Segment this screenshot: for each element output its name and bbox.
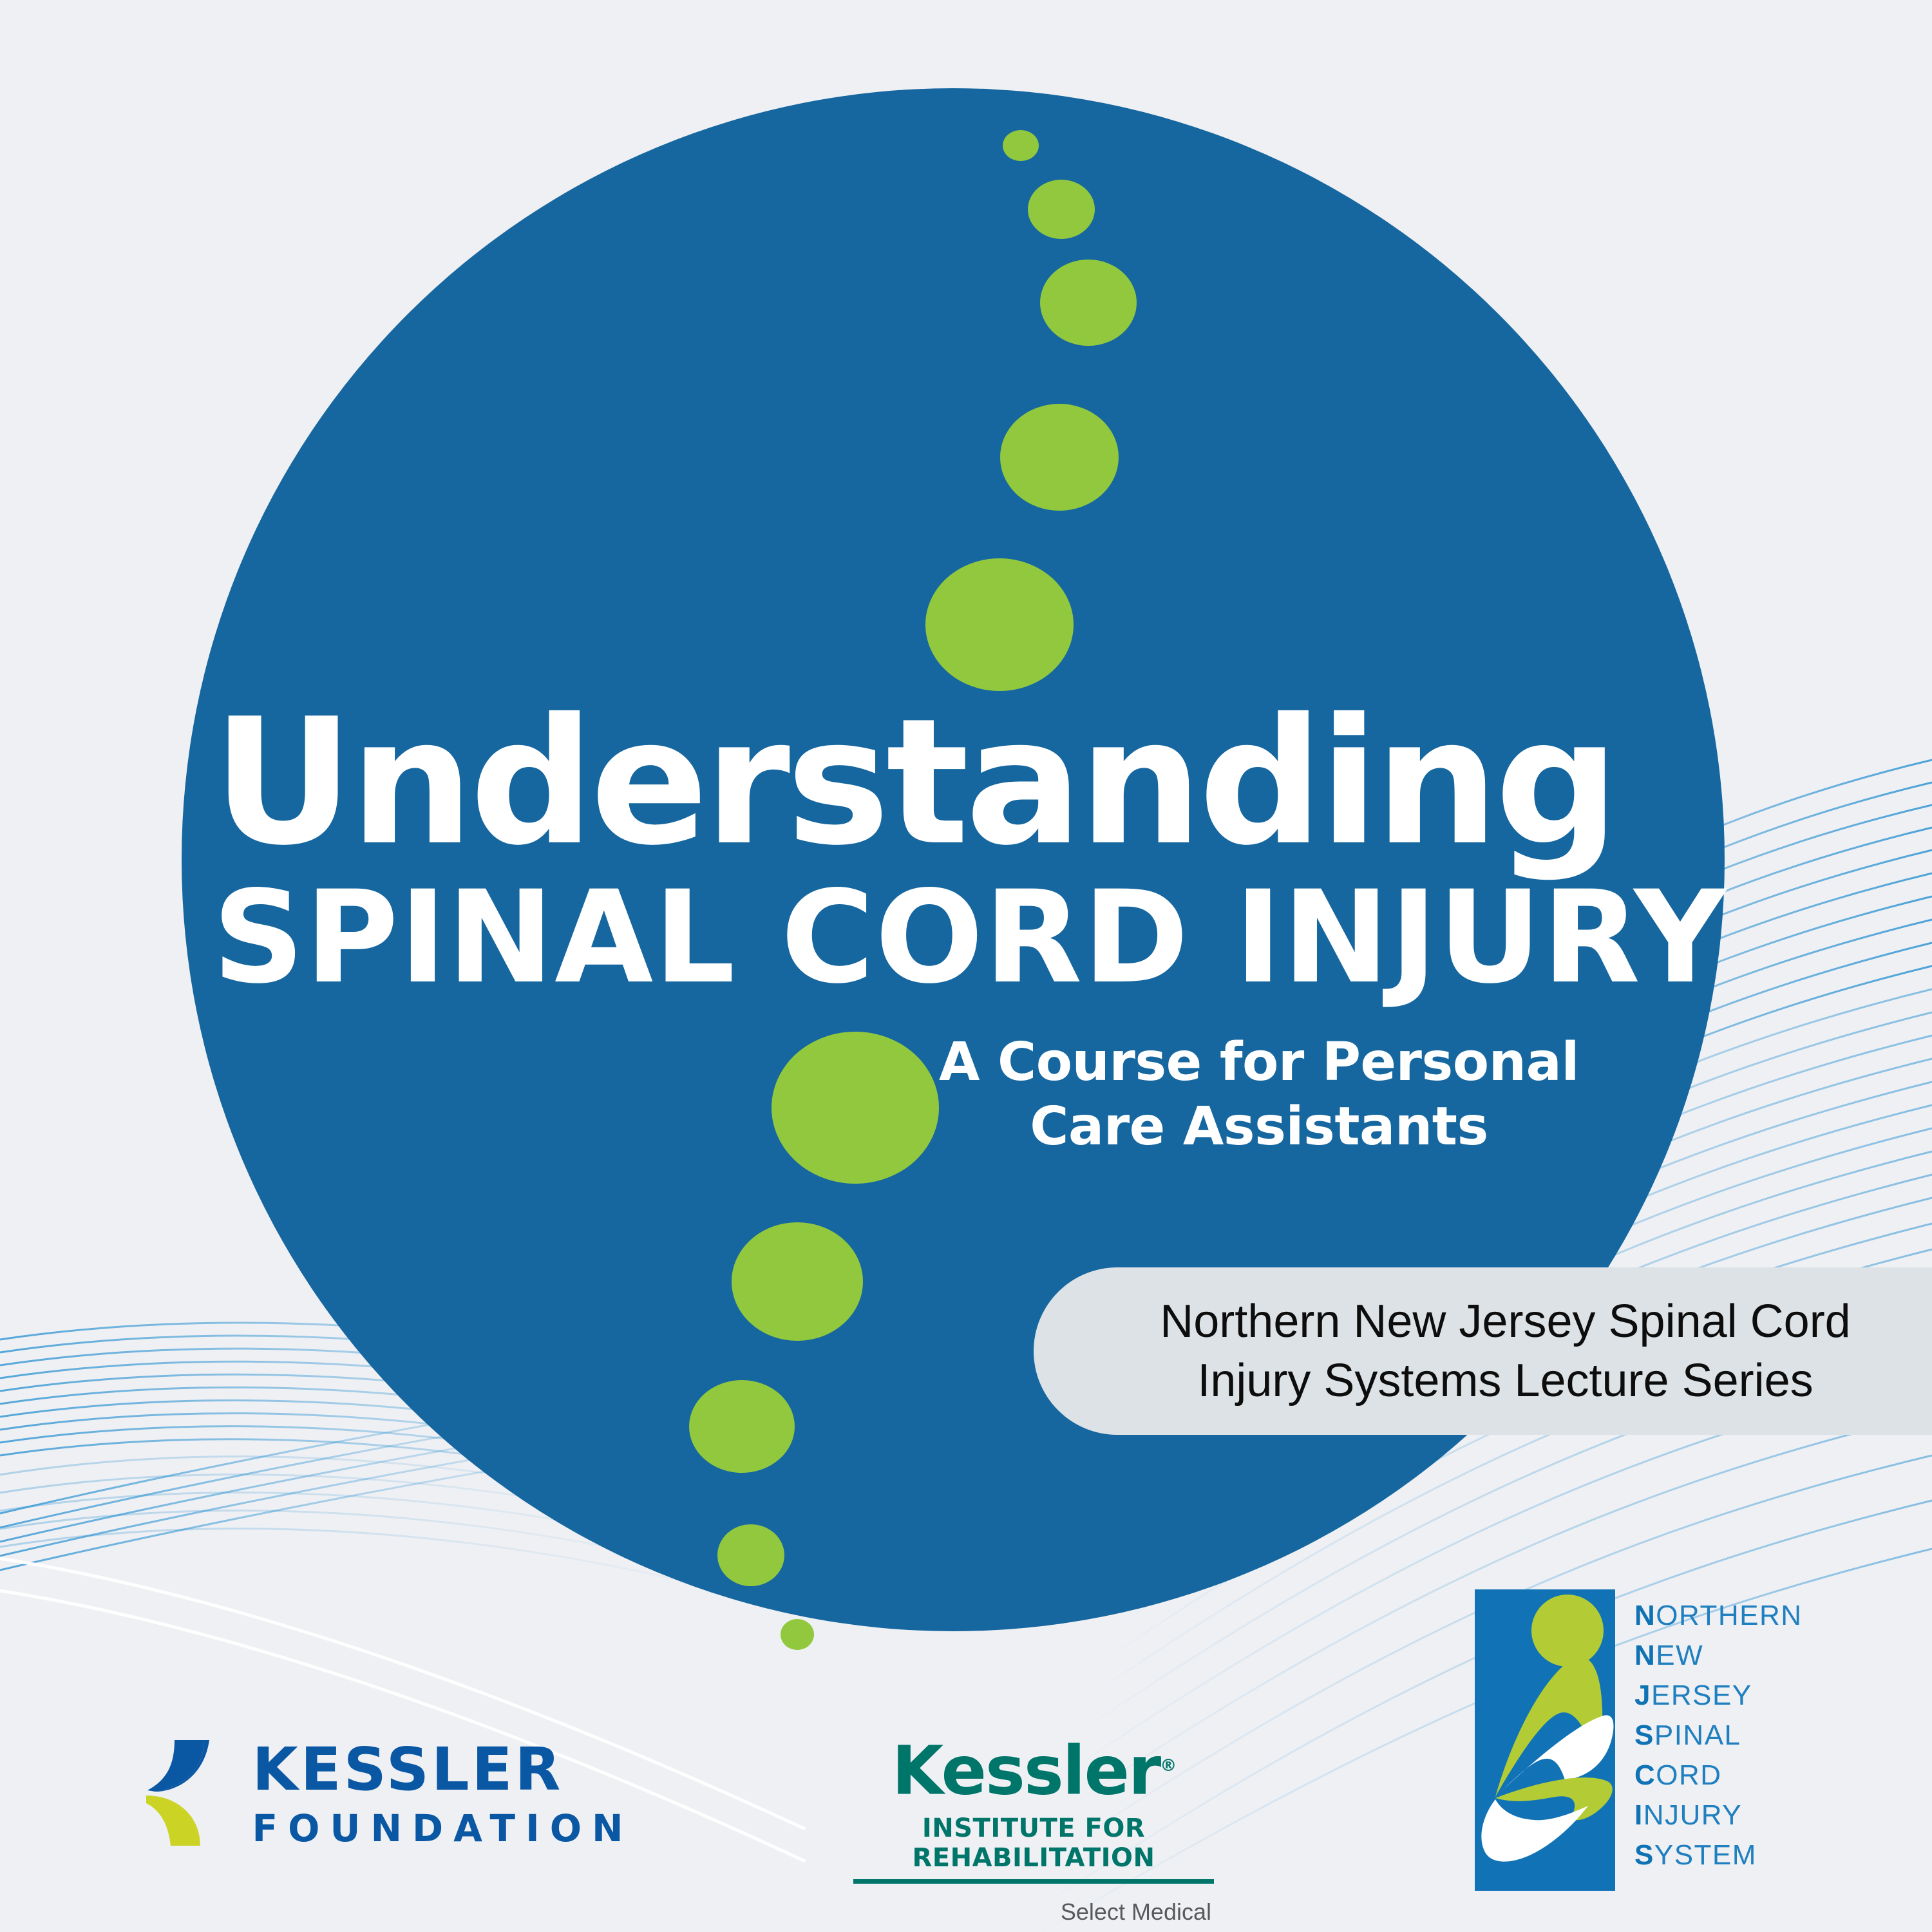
green-circle-chain-upper	[925, 130, 1137, 691]
course-descriptor-line-1: A Course for Personal	[927, 1030, 1591, 1095]
nnjscis-rest-system: YSTEM	[1654, 1839, 1757, 1871]
nnjscis-figure-icon	[1475, 1589, 1615, 1891]
page-title: Understanding	[213, 702, 1694, 863]
nnjscis-initial-n1: N	[1634, 1600, 1656, 1631]
banner-line-1: Northern New Jersey Spinal Cord	[1160, 1292, 1850, 1351]
kessler-foundation-name: KESSLER	[252, 1739, 633, 1801]
page-subtitle: SPINAL CORD INJURY	[213, 873, 1694, 1002]
nnjscis-initial-i: I	[1634, 1799, 1643, 1831]
nnjscis-initial-s1: S	[1634, 1719, 1654, 1751]
kessler-institute-name-text: Kessler	[892, 1732, 1160, 1810]
nnjscis-initial-s2: S	[1634, 1839, 1654, 1871]
kessler-foundation-swoosh-icon	[145, 1739, 235, 1855]
nnjscis-word-spinal: SPINAL	[1634, 1716, 1803, 1756]
title-block: Understanding SPINAL CORD INJURY	[213, 702, 1694, 1002]
nnjscis-word-new: NEW	[1634, 1636, 1803, 1676]
banner-line-2: Injury Systems Lecture Series	[1160, 1351, 1850, 1410]
nnjscis-rest-spinal: PINAL	[1654, 1719, 1741, 1751]
poster-canvas: Understanding SPINAL CORD INJURY A Cours…	[0, 0, 1932, 1932]
kessler-foundation-subname: FOUNDATION	[252, 1807, 633, 1850]
nnjscis-rest-cord: ORD	[1656, 1759, 1721, 1791]
nnjscis-initial-j: J	[1634, 1680, 1651, 1711]
green-circle-chain-lower	[689, 1032, 939, 1650]
nnjscis-word-jersey: JERSEY	[1634, 1676, 1803, 1716]
course-descriptor: A Course for Personal Care Assistants	[927, 1030, 1591, 1159]
nnjscis-word-system: SYSTEM	[1634, 1835, 1803, 1875]
kessler-institute-divider	[853, 1879, 1214, 1884]
nnjscis-word-cord: CORD	[1634, 1756, 1803, 1795]
nnjscis-logo: NORTHERN NEW JERSEY SPINAL CORD INJURY S…	[1475, 1589, 1803, 1891]
nnjscis-rest-new: EW	[1656, 1640, 1703, 1671]
kessler-foundation-wordmark: KESSLER FOUNDATION	[252, 1739, 633, 1850]
lecture-series-banner: Northern New Jersey Spinal Cord Injury S…	[1034, 1267, 1932, 1435]
nnjscis-initial-c: C	[1634, 1759, 1656, 1791]
nnjscis-rest-northern: ORTHERN	[1656, 1600, 1802, 1631]
lecture-series-banner-text: Northern New Jersey Spinal Cord Injury S…	[1083, 1292, 1882, 1410]
nnjscis-word-northern: NORTHERN	[1634, 1596, 1803, 1636]
kessler-institute-name: Kessler®	[892, 1732, 1176, 1804]
course-descriptor-line-2: Care Assistants	[927, 1095, 1591, 1159]
kessler-institute-parent: Select Medical	[853, 1898, 1214, 1926]
kessler-institute-subname: INSTITUTE FOR REHABILITATION	[853, 1814, 1214, 1873]
kessler-foundation-logo: KESSLER FOUNDATION	[145, 1739, 634, 1855]
nnjscis-rest-injury: NJURY	[1643, 1799, 1742, 1831]
nnjscis-wordmark: NORTHERN NEW JERSEY SPINAL CORD INJURY S…	[1634, 1589, 1803, 1875]
nnjscis-word-injury: INJURY	[1634, 1795, 1803, 1835]
nnjscis-initial-n2: N	[1634, 1640, 1656, 1671]
nnjscis-rest-jersey: ERSEY	[1651, 1680, 1752, 1711]
registered-trademark-icon: ®	[1160, 1756, 1175, 1776]
kessler-institute-logo: Kessler® INSTITUTE FOR REHABILITATION Se…	[853, 1732, 1214, 1926]
